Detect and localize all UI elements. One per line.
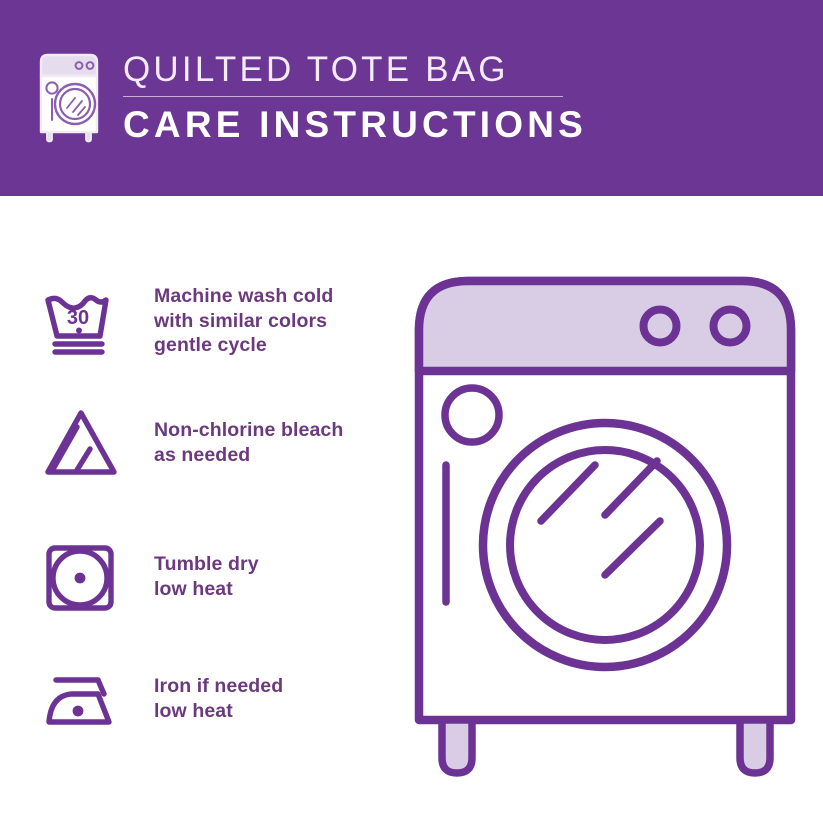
care-line-2: low heat	[154, 699, 283, 724]
care-line-2: with similar colors	[154, 309, 333, 334]
care-item-tumble-dry-text: Tumble dry low heat	[154, 534, 259, 601]
wash-temperature-label: 30	[67, 307, 89, 329]
machine-leg-right	[740, 720, 770, 773]
iron-low-heat-icon	[38, 658, 124, 744]
page-title: QUILTED TOTE BAG	[123, 50, 587, 90]
header-divider	[123, 96, 563, 97]
care-item-iron: Iron if needed low heat	[38, 658, 398, 744]
care-line-1: Iron if needed	[154, 674, 283, 699]
care-instructions-infographic: QUILTED TOTE BAG CARE INSTRUCTIONS 3	[0, 0, 823, 823]
tumble-dry-low-icon	[38, 534, 124, 620]
care-line-2: as needed	[154, 443, 343, 468]
care-line-1: Machine wash cold	[154, 284, 333, 309]
header-content: QUILTED TOTE BAG CARE INSTRUCTIONS	[33, 48, 587, 147]
care-item-machine-wash-text: Machine wash cold with similar colors ge…	[154, 280, 333, 358]
care-line-1: Tumble dry	[154, 552, 259, 577]
care-instruction-list: 30 Machine wash cold with similar colors…	[0, 196, 420, 823]
washing-machine-icon	[33, 48, 105, 144]
non-chlorine-bleach-triangle-icon	[38, 400, 124, 486]
control-panel	[419, 281, 791, 371]
care-line-1: Non-chlorine bleach	[154, 418, 343, 443]
machine-leg-left	[442, 720, 472, 773]
care-line-3: gentle cycle	[154, 333, 333, 358]
care-item-bleach: Non-chlorine bleach as needed	[38, 400, 398, 486]
care-item-iron-text: Iron if needed low heat	[154, 658, 283, 723]
care-item-machine-wash: 30 Machine wash cold with similar colors…	[38, 280, 398, 366]
care-line-2: low heat	[154, 577, 259, 602]
care-item-bleach-text: Non-chlorine bleach as needed	[154, 400, 343, 467]
wash-tub-30-gentle-icon: 30	[38, 280, 124, 366]
header-banner: QUILTED TOTE BAG CARE INSTRUCTIONS	[0, 0, 823, 196]
care-item-tumble-dry: Tumble dry low heat	[38, 534, 398, 620]
page-subtitle: CARE INSTRUCTIONS	[123, 103, 587, 147]
header-text: QUILTED TOTE BAG CARE INSTRUCTIONS	[123, 48, 587, 147]
front-load-washing-machine-illustration	[405, 265, 805, 780]
